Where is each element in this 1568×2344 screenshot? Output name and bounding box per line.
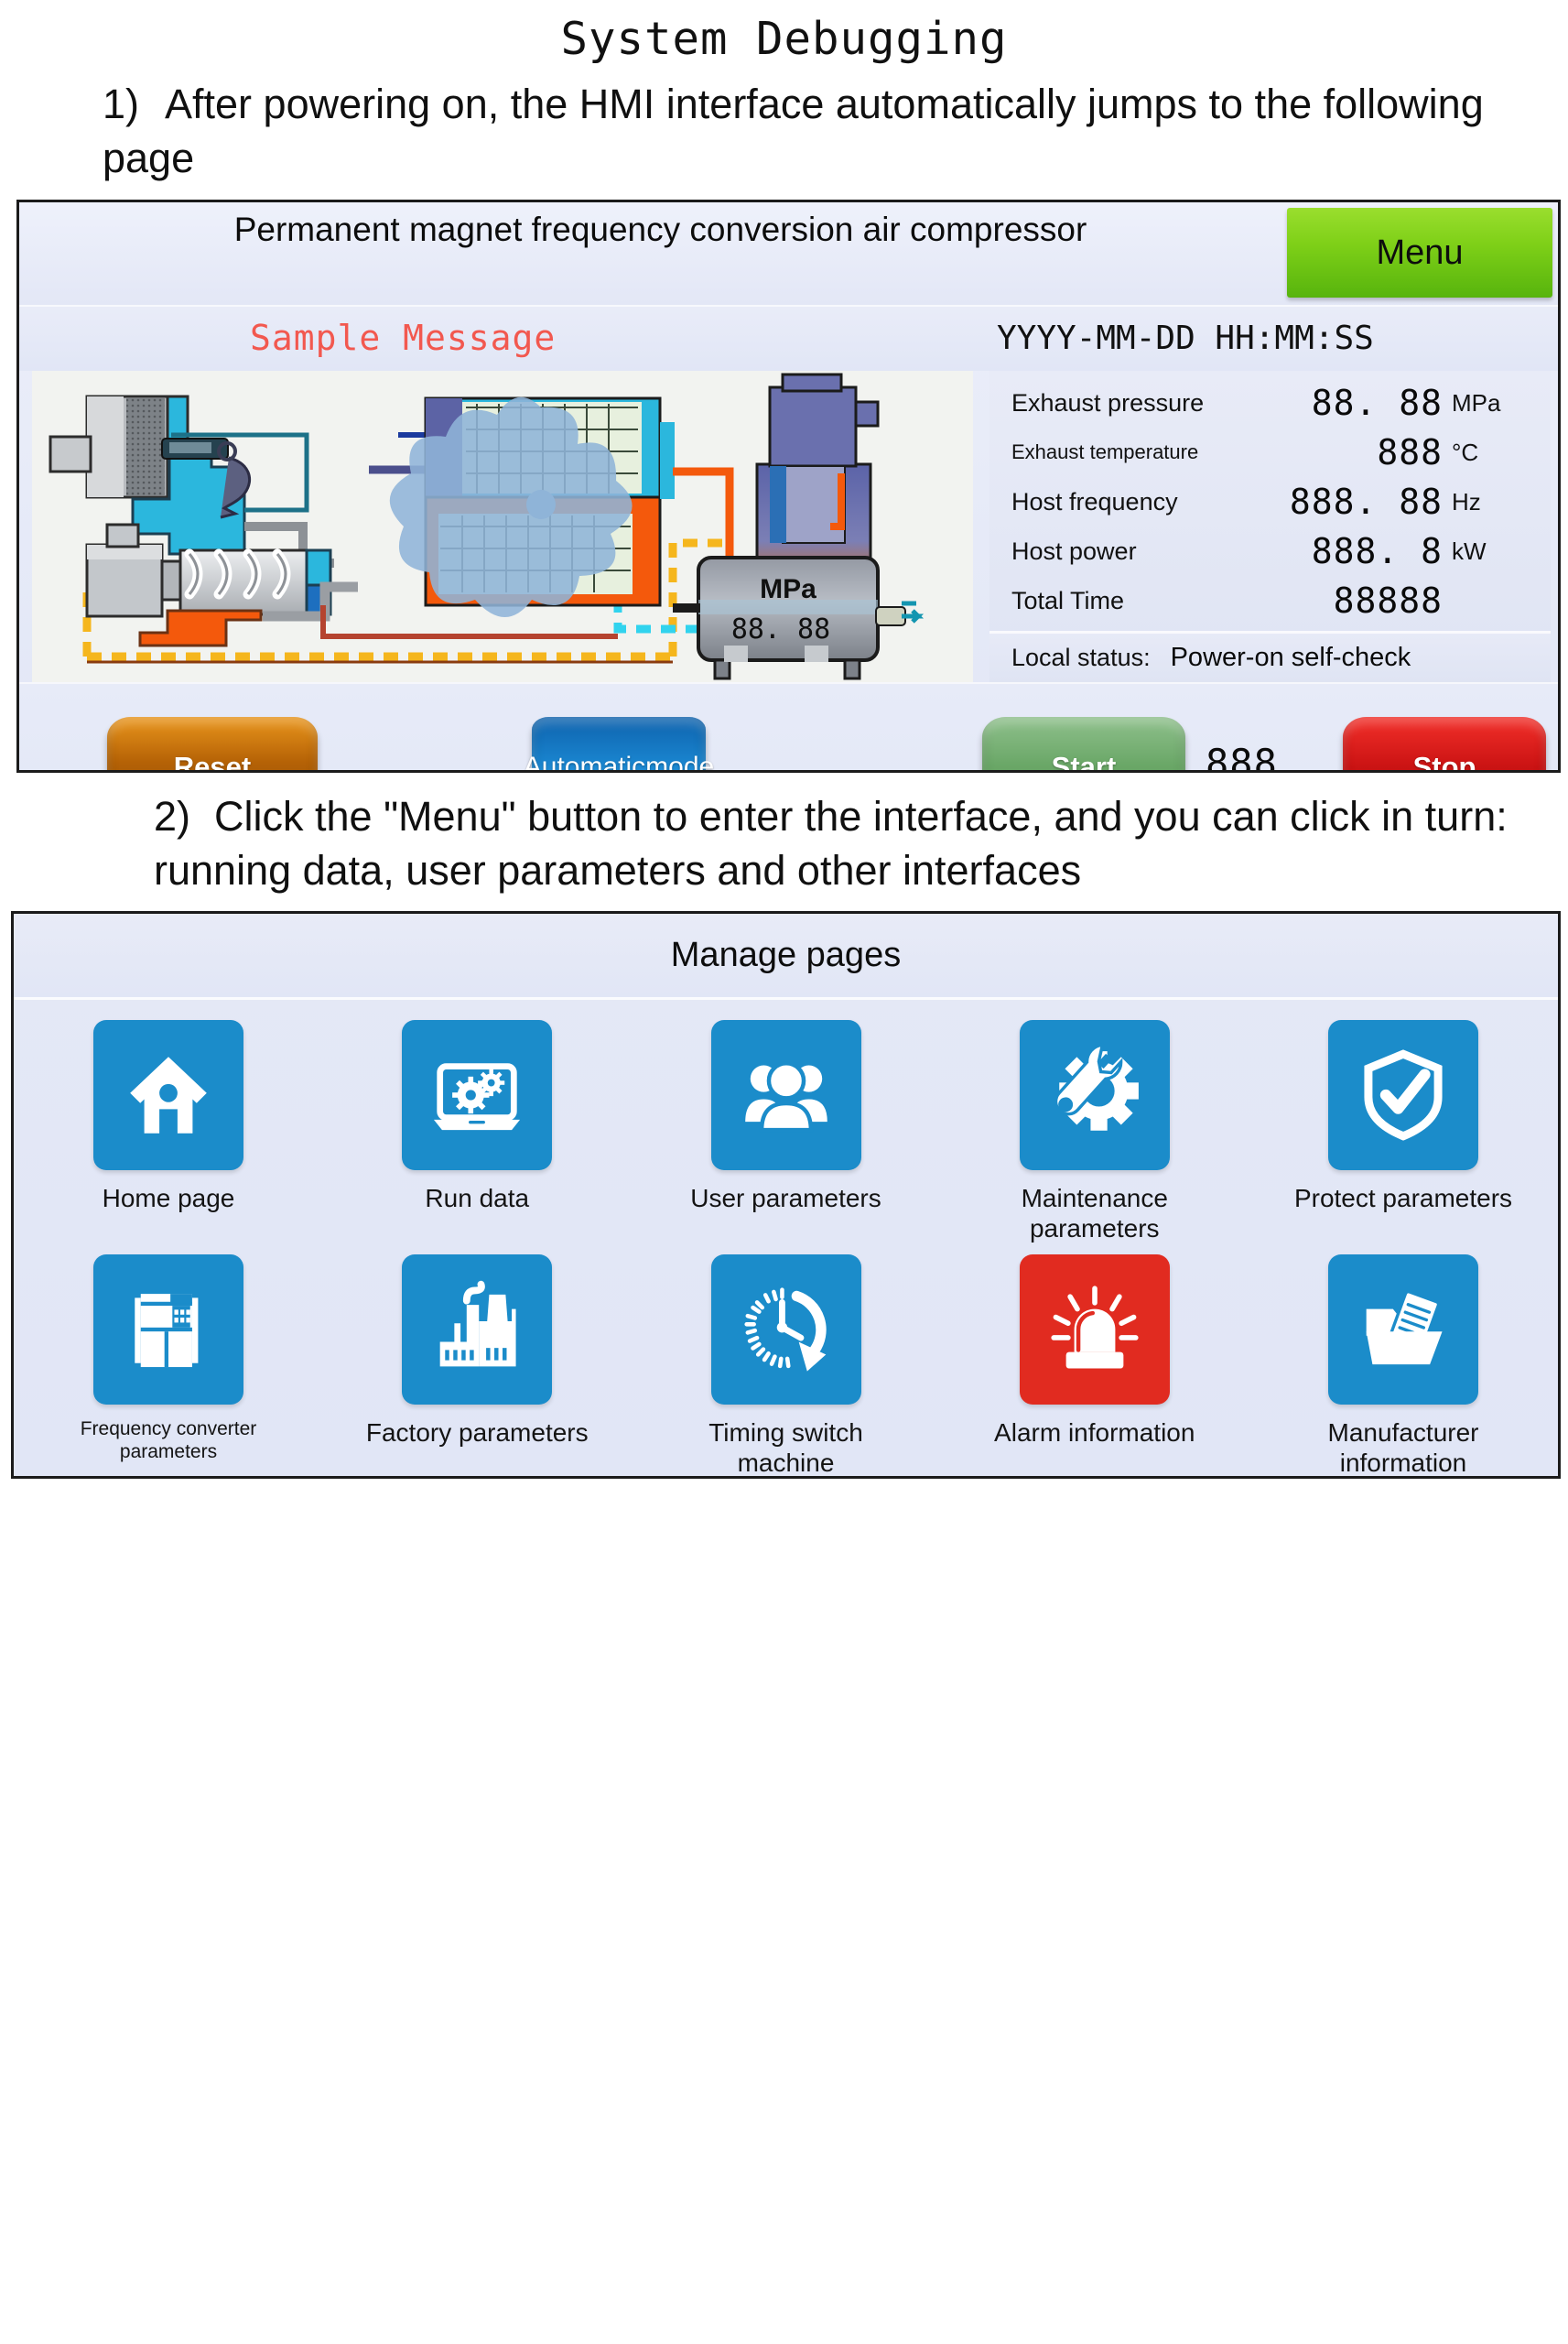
readout-unit: MPa (1452, 389, 1540, 418)
readout-label: Exhaust pressure (1011, 389, 1204, 418)
menu-tile-label: User parameters (690, 1183, 881, 1213)
datetime-display: YYYY-MM-DD HH:MM:SS (997, 320, 1374, 357)
menu-tile-label: Frequency converter parameters (45, 1417, 292, 1464)
shield-check-icon (1328, 1020, 1478, 1170)
menu-tile-row: Frequency converter parameters (45, 1254, 1527, 1478)
menu-tile-frequency-converter-parameters[interactable]: Frequency converter parameters (45, 1254, 292, 1478)
status-message: Sample Message (250, 318, 556, 358)
readout-value: 88. 88 (1312, 383, 1443, 423)
readout-label: Total Time (1011, 587, 1124, 615)
hmi-control-bar: Reset Automatic mode Start 888 Stop (19, 682, 1558, 773)
step-1-text: After powering on, the HMI interface aut… (103, 81, 1484, 181)
readout-rows: Exhaust pressure 88. 88 MPa Exhaust temp… (989, 371, 1551, 625)
menu-tile-label: Alarm information (994, 1417, 1195, 1448)
readout-value: 888. 88 (1290, 482, 1443, 522)
menu-tile-home-page[interactable]: Home page (45, 1020, 292, 1243)
compressor-schematic-diagram: MPa 88. 88 (32, 371, 973, 682)
readout-label: Exhaust temperature (1011, 440, 1198, 464)
menu-tile-protect-parameters[interactable]: Protect parameters (1280, 1020, 1527, 1243)
start-counter-display: 888 (1206, 741, 1278, 773)
menu-tile-factory-parameters[interactable]: Factory parameters (353, 1254, 600, 1478)
menu-tile-label: Run data (425, 1183, 529, 1213)
hmi-body: MPa 88. 88 Exhaust pressure 88. 88 MPa E… (19, 371, 1558, 682)
home-icon (93, 1020, 243, 1170)
step-2-number: 2) (154, 793, 190, 840)
gear-wrench-icon (1020, 1020, 1170, 1170)
manage-pages-screen: Manage pages Home page (11, 911, 1561, 1479)
readout-value: 888 (1377, 432, 1443, 472)
users-group-icon (711, 1020, 861, 1170)
reset-button[interactable]: Reset (107, 717, 318, 773)
menu-tile-label: Timing switch machine (663, 1417, 910, 1478)
readout-row-host-power: Host power 888. 8 kW (989, 526, 1551, 576)
timer-clock-icon (711, 1254, 861, 1405)
menu-tile-grid: Home page (14, 1000, 1558, 1478)
local-status-label: Local status: (1011, 644, 1151, 672)
hmi-home-screen: Permanent magnet frequency conversion ai… (16, 200, 1561, 773)
local-status-bar: Local status: Power-on self-check (989, 631, 1551, 682)
menu-tile-run-data[interactable]: Run data (353, 1020, 600, 1243)
readout-row-host-frequency: Host frequency 888. 88 Hz (989, 477, 1551, 526)
readout-row-exhaust-temperature: Exhaust temperature 888 °C (989, 428, 1551, 477)
menu-tile-maintenance-parameters[interactable]: Maintenance parameters (971, 1020, 1218, 1243)
readout-value: 88888 (1334, 581, 1443, 621)
readout-value: 888. 8 (1312, 531, 1443, 571)
step-1-number: 1) (103, 81, 139, 127)
menu-button[interactable]: Menu (1287, 208, 1552, 298)
readout-row-exhaust-pressure: Exhaust pressure 88. 88 MPa (989, 378, 1551, 428)
readout-row-total-time: Total Time 88888 (989, 576, 1551, 625)
menu-tile-label: Protect parameters (1294, 1183, 1512, 1213)
menu-tile-label: Manufacturer information (1280, 1417, 1527, 1478)
menu-tile-label: Home page (103, 1183, 235, 1213)
page-title: System Debugging (0, 0, 1568, 65)
menu-tile-alarm-information[interactable]: Alarm information (971, 1254, 1218, 1478)
readout-label: Host power (1011, 537, 1137, 566)
readout-panel: Exhaust pressure 88. 88 MPa Exhaust temp… (989, 371, 1551, 682)
menu-tile-label: Maintenance parameters (971, 1183, 1218, 1243)
readout-unit: °C (1452, 439, 1540, 467)
automatic-mode-button[interactable]: Automatic mode (532, 717, 706, 773)
step-2-paragraph: 2)Click the "Menu" button to enter the i… (0, 773, 1568, 898)
menu-tile-user-parameters[interactable]: User parameters (663, 1020, 910, 1243)
svg-text:MPa: MPa (760, 574, 816, 604)
step-2-text: Click the "Menu" button to enter the int… (154, 793, 1508, 894)
automatic-mode-label-line1: Automatic (524, 752, 645, 773)
factory-icon (402, 1254, 552, 1405)
start-button[interactable]: Start (982, 717, 1185, 773)
readout-unit: kW (1452, 537, 1540, 566)
alarm-siren-icon (1020, 1254, 1170, 1405)
hmi-titlebar: Permanent magnet frequency conversion ai… (19, 202, 1558, 305)
hmi-message-bar: Sample Message YYYY-MM-DD HH:MM:SS (19, 305, 1558, 371)
stop-button[interactable]: Stop (1343, 717, 1546, 773)
menu-tile-row: Home page (45, 1020, 1527, 1243)
local-status-value: Power-on self-check (1171, 643, 1411, 673)
menu-tile-timing-switch-machine[interactable]: Timing switch machine (663, 1254, 910, 1478)
laptop-gears-icon (402, 1020, 552, 1170)
menu-tile-manufacturer-information[interactable]: Manufacturer information (1280, 1254, 1527, 1478)
automatic-mode-label-line2: mode (645, 752, 714, 773)
document-page: System Debugging 1)After powering on, th… (0, 0, 1568, 2344)
menu-tile-label: Factory parameters (366, 1417, 589, 1448)
svg-text:88. 88: 88. 88 (731, 613, 830, 646)
frequency-converter-icon (93, 1254, 243, 1405)
manage-pages-title: Manage pages (14, 914, 1558, 1000)
readout-unit: Hz (1452, 488, 1540, 516)
readout-label: Host frequency (1011, 488, 1178, 516)
folder-document-icon (1328, 1254, 1478, 1405)
step-1-paragraph: 1)After powering on, the HMI interface a… (0, 65, 1568, 185)
